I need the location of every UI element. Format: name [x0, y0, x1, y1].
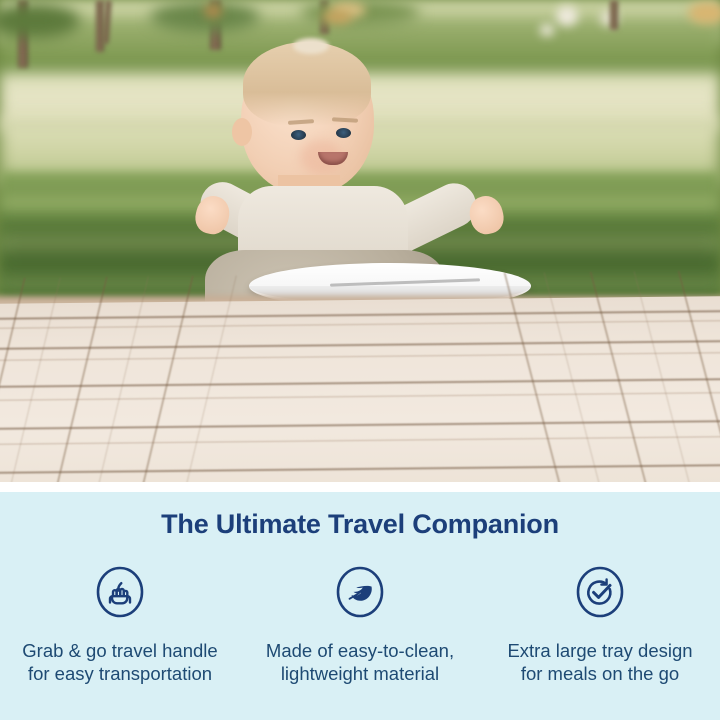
blanket-stripe	[0, 340, 720, 351]
blanket-stripe	[0, 378, 720, 389]
photo-bokeh-highlight	[688, 2, 720, 24]
feature-list: Grab & go travel handle for easy transpo…	[0, 564, 720, 686]
feature-panel: The Ultimate Travel Companion Grab & go …	[0, 492, 720, 720]
feather-icon	[334, 564, 386, 620]
blanket-stripe	[0, 464, 720, 475]
blanket-stripe	[678, 271, 720, 482]
blanket-stripe	[544, 272, 618, 482]
blanket-stripe	[0, 310, 720, 321]
feature-caption: Extra large tray design for meals on the…	[507, 640, 692, 686]
baby-eye	[291, 130, 306, 140]
feature-caption: Made of easy-to-clean, lightweight mater…	[266, 640, 454, 686]
blanket-stripe	[169, 275, 237, 482]
feature-item-travel-handle: Grab & go travel handle for easy transpo…	[0, 564, 240, 686]
product-lifestyle-photo	[0, 0, 720, 482]
photo-tree-trunk	[610, 0, 618, 30]
blanket-stripe	[39, 277, 108, 482]
blanket-stripe	[590, 272, 665, 482]
blanket-stripe	[0, 320, 720, 330]
panel-title: The Ultimate Travel Companion	[0, 509, 720, 540]
baby-hair-tuft	[293, 38, 329, 54]
hand-grabbing-handle-icon	[94, 564, 146, 620]
baby-hair	[243, 42, 371, 126]
product-feature-card: The Ultimate Travel Companion Grab & go …	[0, 0, 720, 720]
blanket-stripe	[0, 420, 720, 431]
photo-panel-divider	[0, 482, 720, 492]
picnic-blanket	[0, 296, 720, 482]
feature-caption: Grab & go travel handle for easy transpo…	[22, 640, 217, 686]
check-refresh-icon	[574, 564, 626, 620]
feature-item-large-tray: Extra large tray design for meals on the…	[480, 564, 720, 686]
blanket-stripe	[125, 276, 194, 482]
feature-item-easy-to-clean: Made of easy-to-clean, lightweight mater…	[240, 564, 480, 686]
blanket-stripe	[0, 392, 720, 402]
blanket-stripe	[81, 276, 149, 482]
photo-bokeh-highlight	[540, 24, 554, 36]
photo-bokeh-highlight	[556, 6, 578, 26]
blanket-stripe	[0, 277, 61, 482]
baby-ear	[232, 118, 252, 146]
photo-bokeh-highlight	[322, 10, 352, 24]
blanket-stripe	[0, 278, 26, 482]
blanket-stripe	[634, 271, 708, 482]
baby-eye	[336, 128, 351, 138]
blanket-stripe	[504, 273, 579, 482]
photo-bokeh-highlight	[204, 4, 222, 18]
